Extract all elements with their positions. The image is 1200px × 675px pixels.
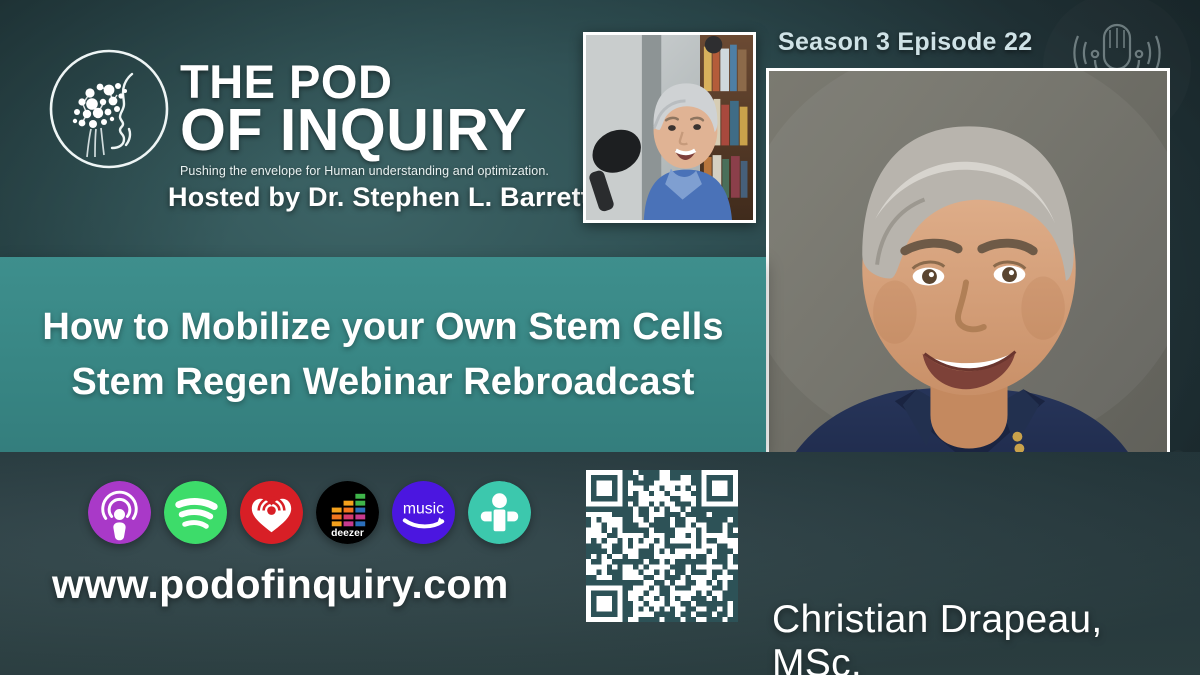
- svg-text:music: music: [403, 500, 444, 517]
- guest-name: Christian Drapeau, MSc.: [772, 598, 1200, 675]
- svg-text:deezer: deezer: [331, 528, 364, 539]
- brand-logo[interactable]: THE POD OF INQUIRY Pushing the envelope …: [46, 46, 549, 178]
- season-episode-label: Season 3 Episode 22: [778, 28, 1032, 57]
- podcast-episode-poster: THE POD OF INQUIRY Pushing the envelope …: [0, 0, 1200, 675]
- deezer-icon[interactable]: deezer: [316, 481, 379, 544]
- brand-tagline: Pushing the envelope for Human understan…: [180, 164, 549, 178]
- website-url[interactable]: www.podofinquiry.com: [52, 561, 509, 608]
- brain-head-circle-icon: [46, 46, 172, 172]
- amazon-music-icon[interactable]: music: [392, 481, 455, 544]
- apple-podcasts-icon[interactable]: [88, 481, 151, 544]
- host-credit: Hosted by Dr. Stephen L. Barrett: [168, 182, 590, 213]
- logo-line-2: OF INQUIRY: [180, 103, 549, 157]
- host-photo: [583, 32, 756, 223]
- episode-title-line-1: How to Mobilize your Own Stem Cells: [42, 303, 723, 352]
- qr-code[interactable]: [586, 470, 738, 622]
- spotify-icon[interactable]: [164, 481, 227, 544]
- episode-title-line-2: Stem Regen Webinar Rebroadcast: [71, 358, 694, 407]
- episode-title-band: How to Mobilize your Own Stem Cells Stem…: [0, 257, 766, 453]
- platform-links: deezer music: [88, 481, 531, 544]
- tunein-icon[interactable]: [468, 481, 531, 544]
- iheartradio-icon[interactable]: [240, 481, 303, 544]
